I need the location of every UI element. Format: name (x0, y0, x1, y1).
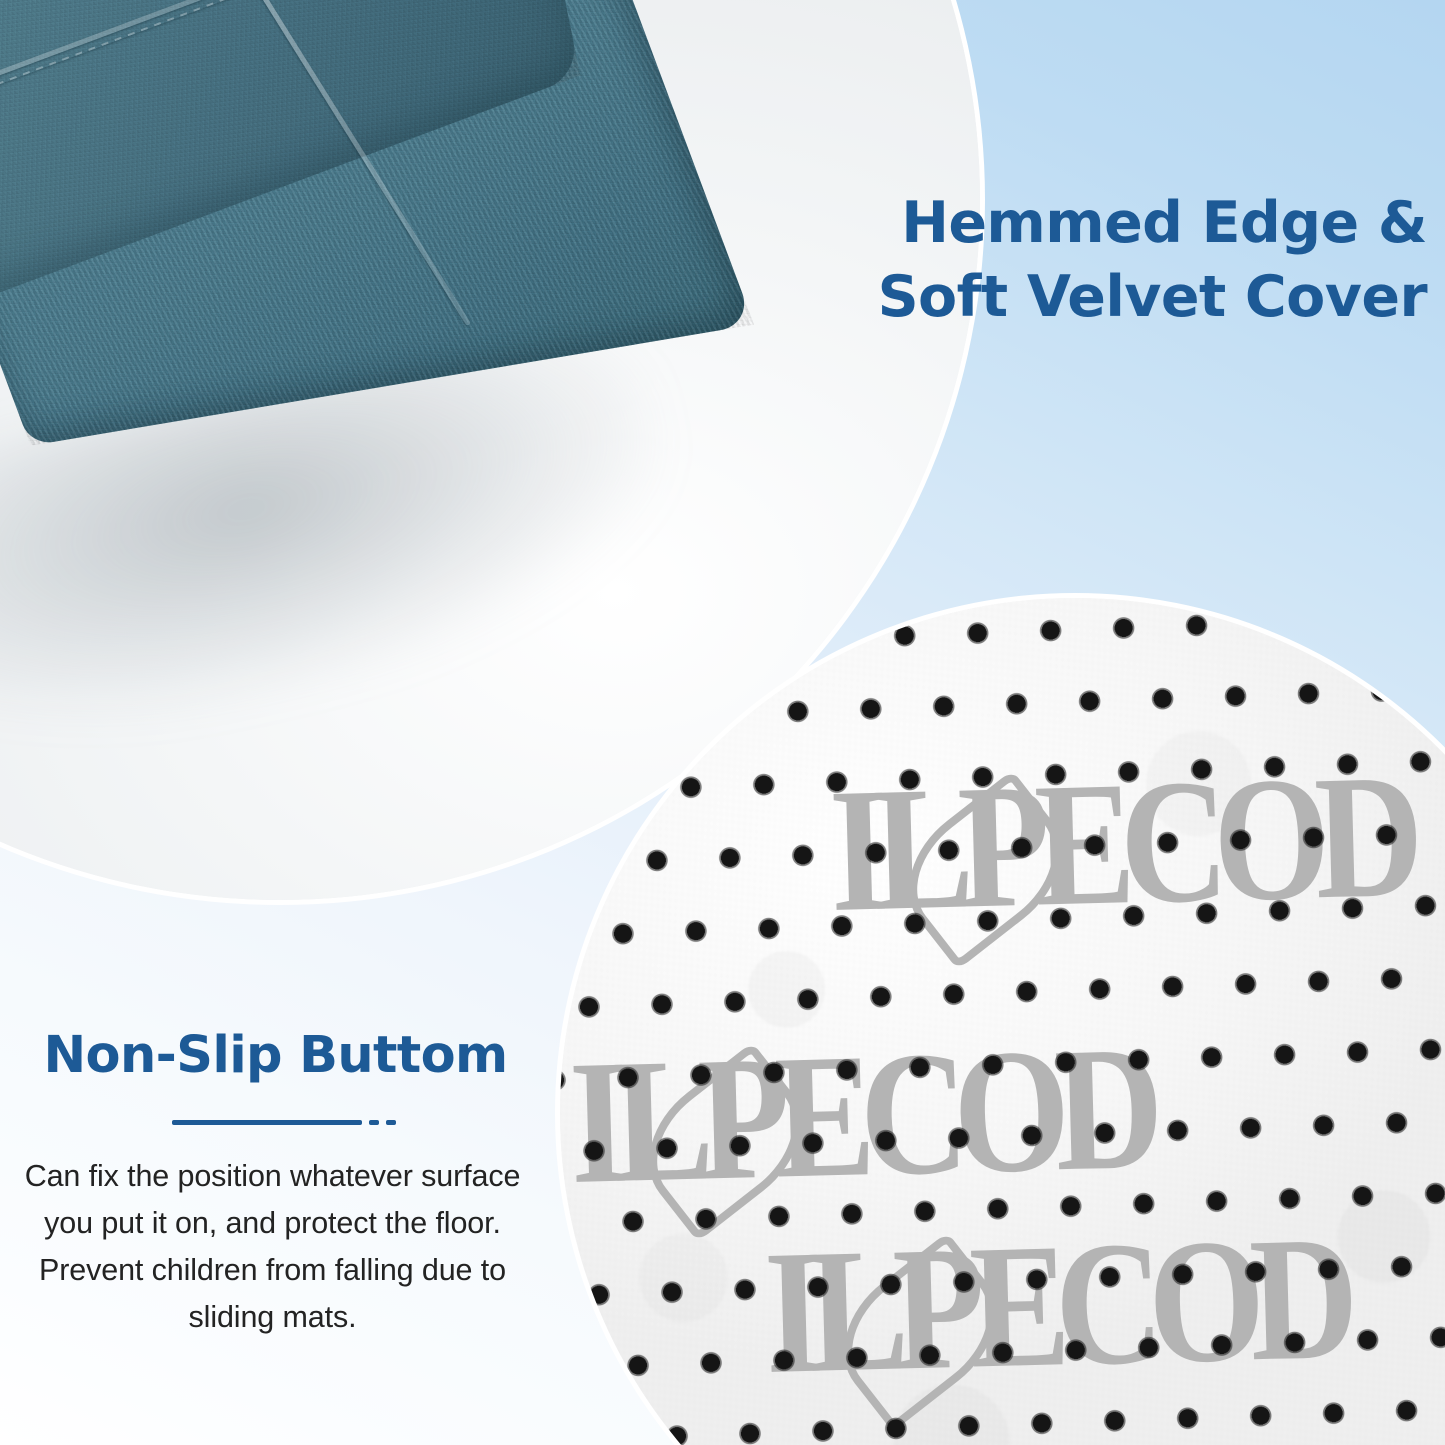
headline-line-1: Hemmed Edge & (667, 186, 1427, 260)
feature-block: Non-Slip Buttom Can fix the position wha… (0, 1028, 545, 1341)
feature-description: Can fix the position whatever surface yo… (0, 1153, 545, 1341)
divider-dash (369, 1120, 379, 1125)
product-feature-image: ILPECOD ILPECOD ILPECOD Hemmed Edge & So… (0, 0, 1445, 1445)
silicone-grip-dots (560, 598, 1445, 1445)
divider-dash (386, 1120, 396, 1125)
headline: Hemmed Edge & Soft Velvet Cover (667, 186, 1427, 334)
feature-title: Non-Slip Buttom (6, 1028, 545, 1084)
non-slip-mat-photo-circle: ILPECOD ILPECOD ILPECOD (560, 598, 1445, 1445)
divider-rule (172, 1120, 362, 1125)
feature-divider (22, 1120, 545, 1125)
headline-line-2: Soft Velvet Cover (667, 260, 1427, 334)
